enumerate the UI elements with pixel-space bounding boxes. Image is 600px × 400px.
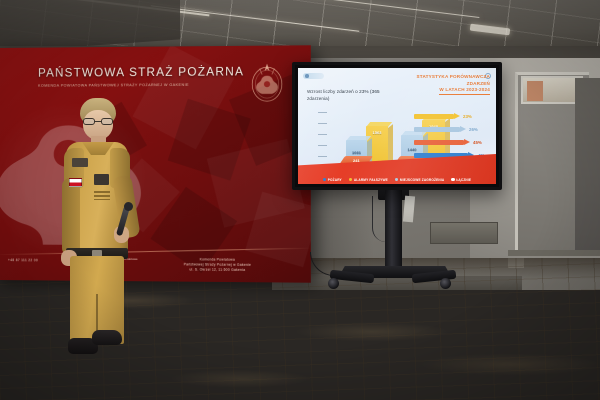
secondary-door[interactable]	[575, 78, 600, 250]
arrow-bar	[414, 127, 460, 131]
arrow-row-local-threats: 26%	[414, 125, 490, 134]
presentation-room-photo: PAŃSTWOWA STRAŻ POŻARNA KOMENDA POWIATOW…	[0, 0, 600, 400]
arrow-local-threats	[414, 126, 466, 133]
display-screen[interactable]: STATYSTYKA PORÓWNAWCZA ZDARZEŃ W LATACH …	[292, 62, 502, 190]
arrow-pct-false-alarms: 45%	[473, 140, 482, 145]
door-transom-window	[521, 76, 583, 104]
banner-footer-divider	[0, 248, 311, 256]
slide-title-line1: STATYSTYKA PORÓWNAWCZA	[384, 74, 490, 81]
wall-vent-panel	[430, 222, 498, 244]
legend-item-false-alarms: ALARMY FAŁSZYWE	[349, 178, 388, 182]
uniform-name-patch	[94, 174, 109, 185]
arrow-bar	[414, 140, 464, 144]
tv-stand-pole	[385, 190, 402, 272]
legend-swatch-icon	[395, 178, 398, 181]
legend-swatch-icon	[451, 178, 454, 181]
presenter-shoe-right	[92, 330, 122, 345]
caster-wheel-left	[328, 278, 339, 289]
y-axis-ticks	[318, 112, 330, 168]
legend-label: ŁĄCZNIE	[456, 178, 471, 182]
bar-value-label: 1563	[366, 130, 388, 135]
polish-flag-patch-icon	[69, 178, 82, 187]
microphone-head-icon	[124, 202, 133, 211]
slide-lead-text: Wzrost liczby zdarzeń o 23% (365 zdarzen…	[307, 88, 385, 102]
slide-title: STATYSTYKA PORÓWNAWCZA ZDARZEŃ W LATACH …	[384, 74, 490, 95]
legend-swatch-icon	[349, 178, 352, 181]
arrow-false-alarms	[414, 139, 470, 146]
psp-crest-icon	[248, 60, 285, 105]
transom-pane	[527, 81, 543, 101]
arrow-tip-icon	[460, 126, 466, 132]
firefighter-presenter	[60, 98, 140, 366]
chart-legend: POŻARY ALARMY FAŁSZYWE MIEJSCOWE ZAGROŻE…	[298, 178, 496, 182]
uniform-rank-insignia	[94, 191, 110, 200]
legend-label: MIEJSCOWE ZAGROŻENIA	[400, 178, 444, 182]
legend-item-fires: POŻARY	[323, 178, 342, 182]
arrow-bar	[414, 114, 454, 118]
banner-address: Komenda Powiatowa Państwowej Straży Poża…	[145, 257, 289, 273]
banner-title: PAŃSTWOWA STRAŻ POŻARNA	[38, 66, 242, 80]
legend-item-total: ŁĄCZNIE	[451, 178, 471, 182]
banner-phone: +48 87 111 22 00	[8, 258, 38, 262]
psp-roll-up-banner: PAŃSTWOWA STRAŻ POŻARNA KOMENDA POWIATOW…	[0, 45, 311, 282]
presenter-arm-left	[62, 178, 80, 256]
arrow-pct-local-threats: 26%	[469, 127, 478, 132]
slide-badge	[303, 73, 324, 79]
arrow-tip-icon	[454, 113, 460, 119]
legend-swatch-icon	[323, 178, 326, 181]
door-sill	[508, 250, 600, 256]
slide-title-line3: W LATACH 2023-2024	[439, 87, 490, 95]
slide-title-line2: ZDARZEŃ	[384, 81, 490, 88]
arrow-total	[414, 113, 460, 120]
legend-label: POŻARY	[328, 178, 342, 182]
arrow-tip-icon	[464, 139, 470, 145]
caster-wheel-right	[440, 278, 451, 289]
uniform-shoulder-patch	[72, 158, 88, 167]
slide-viewport: STATYSTYKA PORÓWNAWCZA ZDARZEŃ W LATACH …	[298, 68, 496, 184]
legend-item-local-threats: MIEJSCOWE ZAGROŻENIA	[395, 178, 444, 182]
arrow-row-total: 23%	[414, 112, 490, 121]
legend-label: ALARMY FAŁSZYWE	[354, 178, 388, 182]
glasses-icon	[83, 118, 113, 125]
badge-dot-icon	[305, 74, 309, 78]
cable-on-pole	[372, 196, 386, 242]
banner-subtitle: KOMENDA POWIATOWA PAŃSTWOWEJ STRAŻY POŻA…	[38, 82, 263, 89]
banner-footer: +48 87 111 22 00 dane kontaktowe Komenda…	[0, 244, 311, 283]
bar-value-label: 1031	[346, 150, 367, 155]
arrow-row-false-alarms: 45%	[414, 138, 490, 147]
arrow-pct-total: 23%	[463, 114, 472, 119]
statistics-slide: STATYSTYKA PORÓWNAWCZA ZDARZEŃ W LATACH …	[298, 68, 496, 184]
ceiling	[0, 0, 600, 52]
